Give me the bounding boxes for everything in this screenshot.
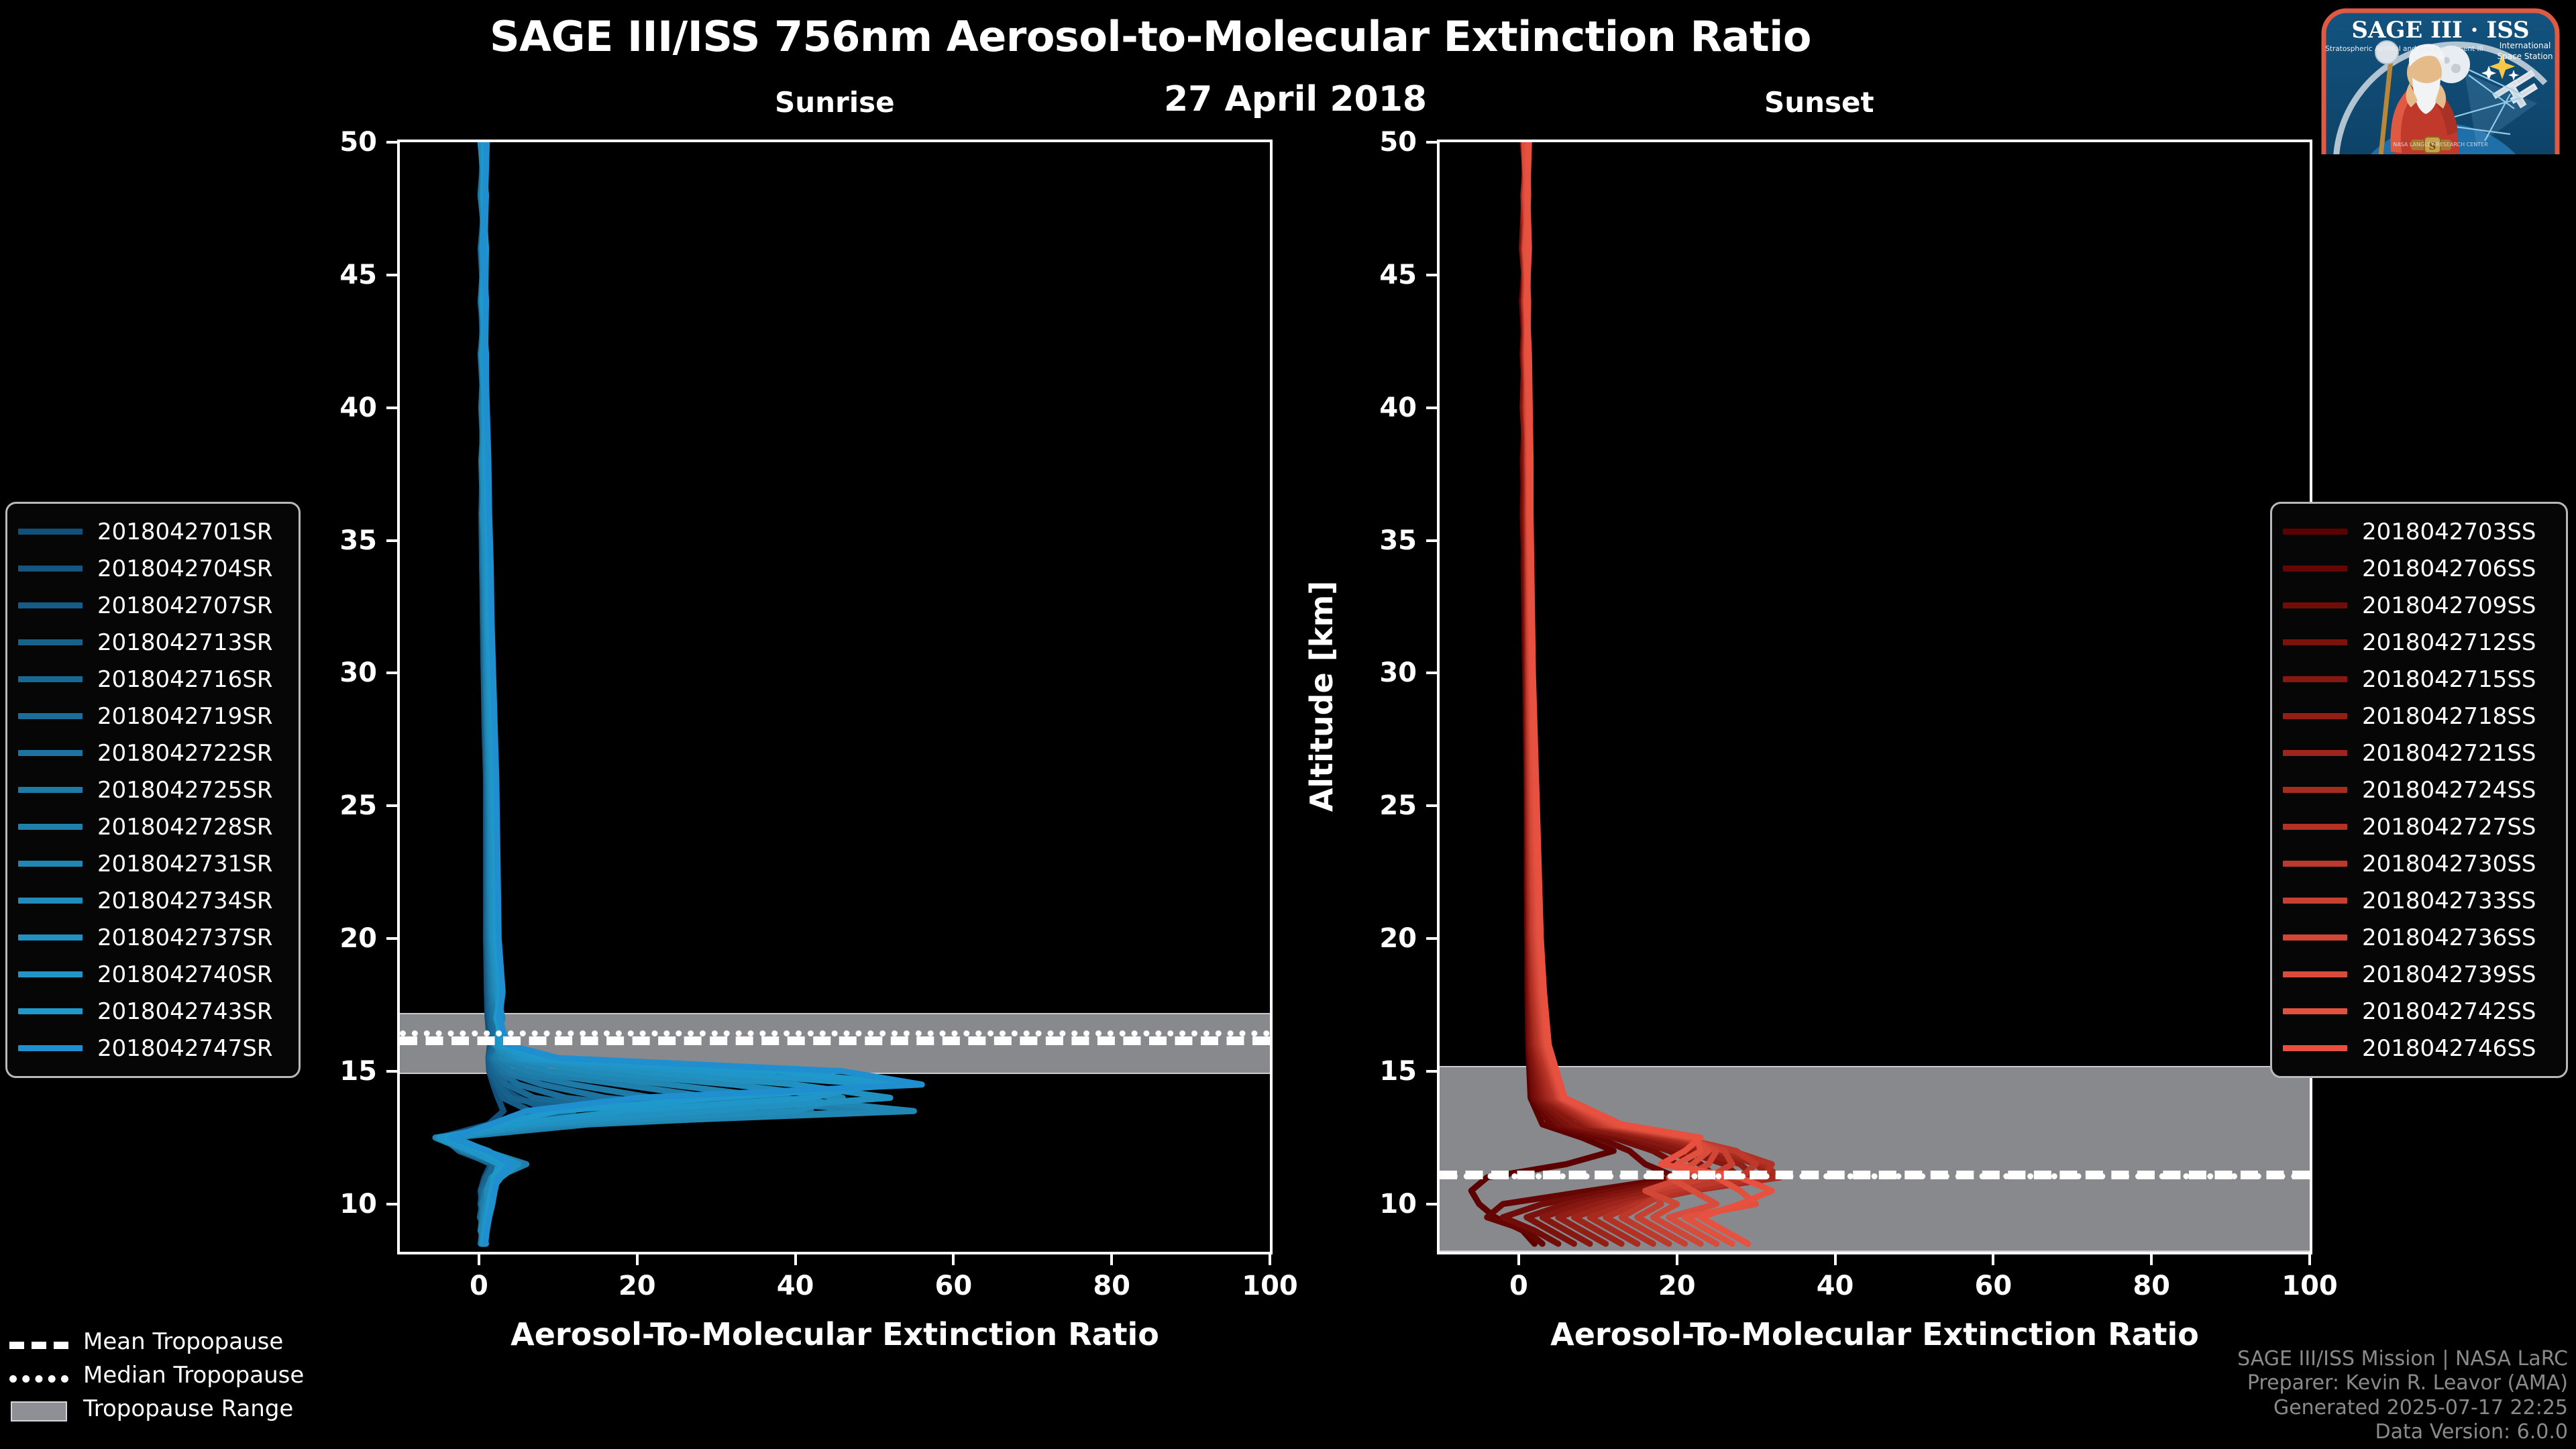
legend-label: 2018042739SS bbox=[2362, 961, 2536, 988]
legend-color-swatch bbox=[2283, 971, 2347, 977]
legend-sunrise-item[interactable]: 2018042713SR bbox=[18, 624, 288, 661]
x-tick-mark bbox=[478, 1254, 480, 1265]
legend-color-swatch bbox=[2283, 602, 2347, 608]
legend-sunrise-item[interactable]: 2018042747SR bbox=[18, 1030, 288, 1067]
legend-label: 2018042743SR bbox=[97, 998, 273, 1025]
y-tick-label: 10 bbox=[1343, 1189, 1417, 1220]
legend-sunrise-item[interactable]: 2018042716SR bbox=[18, 661, 288, 698]
legend-sunrise-item[interactable]: 2018042725SR bbox=[18, 771, 288, 808]
median-tropopause-line bbox=[400, 1030, 1270, 1036]
legend-sunset-item[interactable]: 2018042709SS bbox=[2283, 587, 2555, 624]
legend-color-swatch bbox=[18, 750, 83, 756]
y-tick-label: 20 bbox=[1343, 923, 1417, 954]
y-tick-mark bbox=[1426, 141, 1437, 144]
legend-label-range: Tropopause Range bbox=[83, 1395, 293, 1422]
legend-item-median-tropopause: Median Tropopause bbox=[9, 1358, 385, 1392]
x-tick-label: 100 bbox=[2282, 1271, 2338, 1301]
legend-label: 2018042719SR bbox=[97, 703, 273, 730]
y-tick-mark bbox=[386, 407, 397, 409]
series-line bbox=[1524, 142, 1717, 1244]
legend-sunrise-item[interactable]: 2018042734SR bbox=[18, 882, 288, 919]
y-tick-label: 15 bbox=[1343, 1056, 1417, 1087]
mean-tropopause-line bbox=[400, 1036, 1270, 1045]
legend-sunrise-item[interactable]: 2018042731SR bbox=[18, 845, 288, 882]
y-tick-mark bbox=[1426, 1203, 1437, 1205]
legend-label: 2018042736SS bbox=[2362, 924, 2536, 951]
legend-sunset-item[interactable]: 2018042706SS bbox=[2283, 550, 2555, 587]
x-axis-title: Aerosol-To-Molecular Extinction Ratio bbox=[397, 1316, 1273, 1352]
legend-color-swatch bbox=[2283, 713, 2347, 719]
footer-line-preparer: Preparer: Kevin R. Leavor (AMA) bbox=[2237, 1371, 2568, 1396]
x-tick-label: 20 bbox=[619, 1271, 656, 1301]
legend-label: 2018042709SS bbox=[2362, 592, 2536, 619]
x-tick-mark bbox=[952, 1254, 955, 1265]
series-line bbox=[1527, 142, 1772, 1244]
legend-sunrise-item[interactable]: 2018042701SR bbox=[18, 513, 288, 550]
y-tick-label: 35 bbox=[1343, 525, 1417, 556]
x-tick-label: 60 bbox=[935, 1271, 973, 1301]
x-tick-mark bbox=[636, 1254, 639, 1265]
y-tick-mark bbox=[386, 1203, 397, 1205]
logo-subtitle-left: Stratospheric Aerosol and Gas Experiment… bbox=[2325, 45, 2483, 53]
subtitle-date: 27 April 2018 bbox=[1164, 79, 1427, 119]
legend-color-swatch bbox=[18, 898, 83, 904]
footer-line-version: Data Version: 6.0.0 bbox=[2237, 1420, 2568, 1445]
sage-iii-iss-logo: S SAGE III · ISS Stratospheric Aerosol a… bbox=[2309, 3, 2572, 154]
x-tick-mark bbox=[1269, 1254, 1271, 1265]
legend-label: 2018042725SR bbox=[97, 777, 273, 804]
legend-color-swatch bbox=[18, 639, 83, 645]
legend-sunrise-item[interactable]: 2018042737SR bbox=[18, 919, 288, 956]
y-tick-mark bbox=[1426, 937, 1437, 940]
page-title: SAGE III/ISS 756nm Aerosol-to-Molecular … bbox=[0, 12, 2301, 61]
x-tick-mark bbox=[1992, 1254, 1994, 1265]
legend-color-swatch bbox=[18, 713, 83, 719]
series-layer bbox=[1440, 142, 2310, 1252]
gray-box-icon bbox=[9, 1401, 68, 1416]
x-tick-mark bbox=[1517, 1254, 1520, 1265]
y-tick-mark bbox=[386, 804, 397, 807]
y-tick-mark bbox=[386, 937, 397, 940]
median-tropopause-line bbox=[1440, 1173, 2310, 1179]
x-tick-mark bbox=[2308, 1254, 2311, 1265]
legend-label: 2018042722SR bbox=[97, 740, 273, 767]
legend-label: 2018042737SR bbox=[97, 924, 273, 951]
y-tick-label: 30 bbox=[1343, 657, 1417, 688]
legend-label: 2018042715SS bbox=[2362, 666, 2536, 693]
y-tick-mark bbox=[386, 141, 397, 144]
x-tick-label: 80 bbox=[1093, 1271, 1130, 1301]
x-tick-mark bbox=[794, 1254, 797, 1265]
y-tick-label: 50 bbox=[1343, 127, 1417, 158]
legend-color-swatch bbox=[2283, 898, 2347, 904]
legend-color-swatch bbox=[18, 787, 83, 793]
y-tick-label: 15 bbox=[303, 1056, 377, 1087]
legend-color-swatch bbox=[2283, 639, 2347, 645]
legend-color-swatch bbox=[18, 529, 83, 535]
y-tick-label: 35 bbox=[303, 525, 377, 556]
x-tick-mark bbox=[2150, 1254, 2153, 1265]
y-tick-label: 10 bbox=[303, 1189, 377, 1220]
legend-sunrise-item[interactable]: 2018042740SR bbox=[18, 956, 288, 993]
legend-sunset-item[interactable]: 2018042718SS bbox=[2283, 698, 2555, 735]
legend-color-swatch bbox=[18, 861, 83, 867]
legend-label: 2018042731SR bbox=[97, 851, 273, 877]
y-tick-label: 30 bbox=[303, 657, 377, 688]
logo-title: SAGE III · ISS bbox=[2351, 17, 2529, 44]
legend-label: 2018042703SS bbox=[2362, 519, 2536, 545]
x-tick-mark bbox=[1834, 1254, 1837, 1265]
legend-label: 2018042704SR bbox=[97, 555, 273, 582]
legend-sunrise[interactable]: 2018042701SR2018042704SR2018042707SR2018… bbox=[5, 502, 301, 1078]
legend-color-swatch bbox=[2283, 676, 2347, 682]
legend-color-swatch bbox=[2283, 750, 2347, 756]
y-tick-mark bbox=[386, 274, 397, 276]
legend-label: 2018042701SR bbox=[97, 519, 273, 545]
legend-color-swatch bbox=[2283, 824, 2347, 830]
legend-label: 2018042721SS bbox=[2362, 740, 2536, 767]
legend-label: 2018042740SR bbox=[97, 961, 273, 988]
legend-label: 2018042716SR bbox=[97, 666, 273, 693]
legend-sunset-item[interactable]: 2018042746SS bbox=[2283, 1030, 2555, 1067]
y-tick-label: 45 bbox=[1343, 260, 1417, 290]
legend-sunset-item[interactable]: 2018042733SS bbox=[2283, 882, 2555, 919]
legend-sunset-item[interactable]: 2018042721SS bbox=[2283, 735, 2555, 771]
legend-label: 2018042707SR bbox=[97, 592, 273, 619]
legend-label: 2018042706SS bbox=[2362, 555, 2536, 582]
legend-label: 2018042718SS bbox=[2362, 703, 2536, 730]
legend-color-swatch bbox=[2283, 934, 2347, 941]
legend-sunrise-item[interactable]: 2018042728SR bbox=[18, 808, 288, 845]
y-tick-label: 40 bbox=[1343, 392, 1417, 423]
legend-sunset-item[interactable]: 2018042736SS bbox=[2283, 919, 2555, 956]
x-tick-label: 40 bbox=[777, 1271, 814, 1301]
legend-sunrise-item[interactable]: 2018042704SR bbox=[18, 550, 288, 587]
y-tick-label: 45 bbox=[303, 260, 377, 290]
footer-line-generated: Generated 2025-07-17 22:25 bbox=[2237, 1396, 2568, 1421]
x-tick-label: 20 bbox=[1658, 1271, 1696, 1301]
logo-subtitle-right-2: Space Station bbox=[2497, 52, 2553, 61]
footer-line-mission: SAGE III/ISS Mission | NASA LaRC bbox=[2237, 1347, 2568, 1372]
y-tick-mark bbox=[1426, 539, 1437, 542]
figure-root: SAGE III/ISS 756nm Aerosol-to-Molecular … bbox=[0, 0, 2576, 1449]
y-tick-label: 40 bbox=[303, 392, 377, 423]
legend-tropopause: Mean Tropopause Median Tropopause Tropop… bbox=[9, 1325, 385, 1426]
legend-label: 2018042747SR bbox=[97, 1035, 273, 1062]
legend-label: 2018042728SR bbox=[97, 814, 273, 841]
x-tick-label: 80 bbox=[2133, 1271, 2170, 1301]
legend-color-swatch bbox=[2283, 1008, 2347, 1014]
legend-sunset-item[interactable]: 2018042730SS bbox=[2283, 845, 2555, 882]
legend-label: 2018042742SS bbox=[2362, 998, 2536, 1025]
dotted-line-icon bbox=[9, 1368, 68, 1383]
legend-label: 2018042746SS bbox=[2362, 1035, 2536, 1062]
legend-sunset-item[interactable]: 2018042712SS bbox=[2283, 624, 2555, 661]
legend-item-mean-tropopause: Mean Tropopause bbox=[9, 1325, 385, 1358]
y-tick-mark bbox=[1426, 1070, 1437, 1073]
y-tick-mark bbox=[386, 672, 397, 674]
y-tick-label: 25 bbox=[1343, 790, 1417, 821]
legend-label: 2018042730SS bbox=[2362, 851, 2536, 877]
legend-color-swatch bbox=[18, 934, 83, 941]
plot-panel-sunset bbox=[1437, 140, 2312, 1254]
legend-sunset-item[interactable]: 2018042742SS bbox=[2283, 993, 2555, 1030]
legend-label: 2018042734SR bbox=[97, 888, 273, 914]
x-tick-label: 0 bbox=[1509, 1271, 1528, 1301]
legend-sunrise-item[interactable]: 2018042719SR bbox=[18, 698, 288, 735]
x-axis-title: Aerosol-To-Molecular Extinction Ratio bbox=[1437, 1316, 2312, 1352]
dashed-line-icon bbox=[9, 1334, 68, 1349]
legend-sunrise-item[interactable]: 2018042707SR bbox=[18, 587, 288, 624]
legend-label: 2018042712SS bbox=[2362, 629, 2536, 656]
legend-label: 2018042727SS bbox=[2362, 814, 2536, 841]
y-tick-label: 20 bbox=[303, 923, 377, 954]
legend-item-tropopause-range: Tropopause Range bbox=[9, 1392, 385, 1426]
legend-label: 2018042713SR bbox=[97, 629, 273, 656]
y-tick-mark bbox=[386, 539, 397, 542]
x-tick-mark bbox=[1110, 1254, 1113, 1265]
legend-color-swatch bbox=[18, 1008, 83, 1014]
y-tick-label: 50 bbox=[303, 127, 377, 158]
x-tick-label: 100 bbox=[1242, 1271, 1298, 1301]
x-tick-label: 60 bbox=[1975, 1271, 2012, 1301]
legend-color-swatch bbox=[18, 824, 83, 830]
subtitle-sunrise: Sunrise bbox=[775, 86, 895, 119]
legend-color-swatch bbox=[18, 676, 83, 682]
legend-color-swatch bbox=[2283, 861, 2347, 867]
legend-sunset-item[interactable]: 2018042715SS bbox=[2283, 661, 2555, 698]
legend-label-median: Median Tropopause bbox=[83, 1362, 304, 1389]
legend-color-swatch bbox=[2283, 529, 2347, 535]
series-layer bbox=[400, 142, 1270, 1252]
legend-sunset-item[interactable]: 2018042727SS bbox=[2283, 808, 2555, 845]
legend-color-swatch bbox=[18, 1045, 83, 1051]
logo-footer-text: NASA LANGLEY RESEARCH CENTER bbox=[2393, 142, 2488, 148]
legend-sunrise-item[interactable]: 2018042722SR bbox=[18, 735, 288, 771]
legend-label: 2018042724SS bbox=[2362, 777, 2536, 804]
logo-svg: S SAGE III · ISS Stratospheric Aerosol a… bbox=[2309, 3, 2572, 154]
legend-sunset-item[interactable]: 2018042739SS bbox=[2283, 956, 2555, 993]
y-tick-mark bbox=[386, 1070, 397, 1073]
legend-sunset[interactable]: 2018042703SS2018042706SS2018042709SS2018… bbox=[2270, 502, 2568, 1078]
footer-credits: SAGE III/ISS Mission | NASA LaRC Prepare… bbox=[2237, 1347, 2568, 1445]
legend-color-swatch bbox=[18, 971, 83, 977]
y-axis-title: Altitude [km] bbox=[1303, 508, 1340, 884]
legend-color-swatch bbox=[2283, 787, 2347, 793]
legend-color-swatch bbox=[18, 566, 83, 572]
series-line bbox=[1487, 142, 1677, 1244]
y-tick-mark bbox=[1426, 672, 1437, 674]
legend-sunset-item[interactable]: 2018042724SS bbox=[2283, 771, 2555, 808]
legend-color-swatch bbox=[18, 602, 83, 608]
legend-sunset-item[interactable]: 2018042703SS bbox=[2283, 513, 2555, 550]
legend-color-swatch bbox=[2283, 566, 2347, 572]
y-tick-mark bbox=[1426, 407, 1437, 409]
x-tick-label: 40 bbox=[1817, 1271, 1854, 1301]
legend-color-swatch bbox=[2283, 1045, 2347, 1051]
y-tick-label: 25 bbox=[303, 790, 377, 821]
subtitle-sunset: Sunset bbox=[1764, 86, 1874, 119]
logo-subtitle-right-1: International bbox=[2500, 41, 2551, 50]
x-tick-label: 0 bbox=[470, 1271, 488, 1301]
plot-panel-sunrise bbox=[397, 140, 1273, 1254]
legend-label-mean: Mean Tropopause bbox=[83, 1328, 283, 1355]
y-tick-mark bbox=[1426, 804, 1437, 807]
legend-sunrise-item[interactable]: 2018042743SR bbox=[18, 993, 288, 1030]
x-tick-mark bbox=[1676, 1254, 1678, 1265]
y-tick-mark bbox=[1426, 274, 1437, 276]
legend-label: 2018042733SS bbox=[2362, 888, 2536, 914]
